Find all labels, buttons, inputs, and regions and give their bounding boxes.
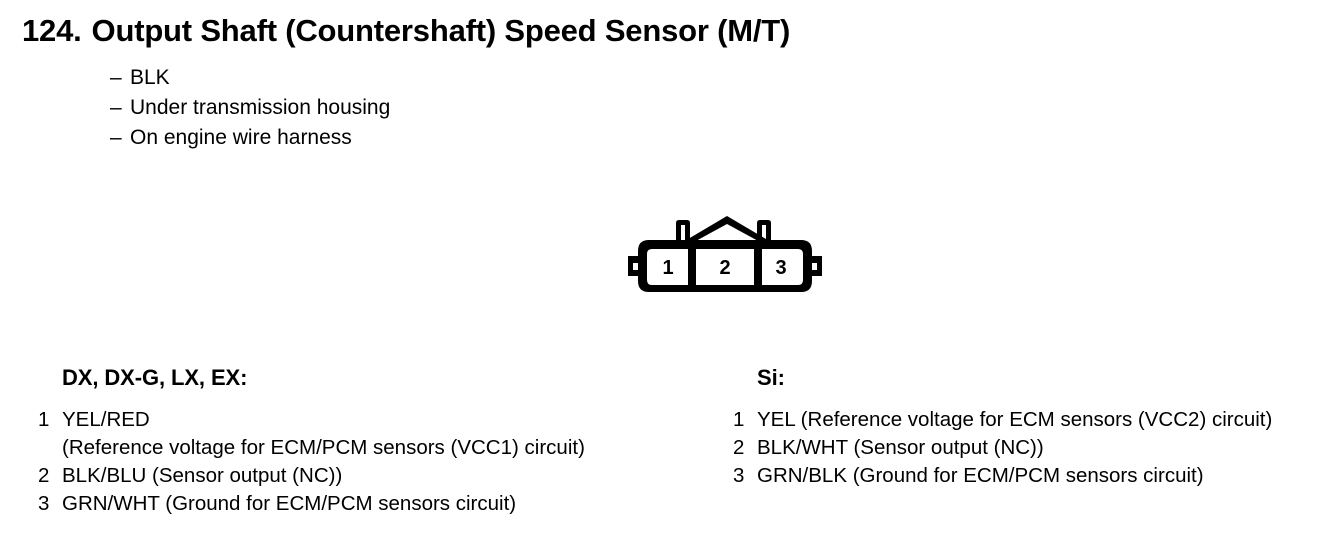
pin-number: 3 <box>733 462 757 490</box>
pin-description: GRN/WHT (Ground for ECM/PCM sensors circ… <box>62 490 585 518</box>
pin-description: GRN/BLK (Ground for ECM/PCM sensors circ… <box>757 462 1272 490</box>
connector-diagram: 1 2 3 <box>620 208 830 303</box>
pin-number: 3 <box>38 490 62 518</box>
pin-description: YEL/RED (Reference voltage for ECM/PCM s… <box>62 406 585 462</box>
table-row: 1 YEL (Reference voltage for ECM sensors… <box>733 406 1272 434</box>
list-item: – On engine wire harness <box>110 123 390 153</box>
table-row: 2 BLK/WHT (Sensor output (NC)) <box>733 434 1272 462</box>
table-row: 3 GRN/BLK (Ground for ECM/PCM sensors ci… <box>733 462 1272 490</box>
list-item: – BLK <box>110 63 390 93</box>
dash-icon: – <box>110 63 130 93</box>
pinout-heading: DX, DX-G, LX, EX: <box>62 364 585 392</box>
pin-number: 1 <box>38 406 62 434</box>
list-item: – Under transmission housing <box>110 93 390 123</box>
connector-illustration: 1 2 3 <box>620 208 830 303</box>
pin-description: BLK/WHT (Sensor output (NC)) <box>757 434 1272 462</box>
section-number: 124. <box>22 13 82 48</box>
list-item-label: BLK <box>130 63 170 93</box>
dash-icon: – <box>110 93 130 123</box>
detail-list: – BLK – Under transmission housing – On … <box>110 63 390 153</box>
pinout-heading: Si: <box>757 364 1272 392</box>
table-row: 1 YEL/RED (Reference voltage for ECM/PCM… <box>38 406 585 462</box>
pinout-table-dx-dxg-lx-ex: DX, DX-G, LX, EX: 1 YEL/RED (Reference v… <box>38 364 585 518</box>
pinout-table-si: Si: 1 YEL (Reference voltage for ECM sen… <box>733 364 1272 490</box>
section-title: Output Shaft (Countershaft) Speed Sensor… <box>92 13 791 48</box>
pin-description: BLK/BLU (Sensor output (NC)) <box>62 462 585 490</box>
dash-icon: – <box>110 123 130 153</box>
pin-description: YEL (Reference voltage for ECM sensors (… <box>757 406 1272 434</box>
table-row: 2 BLK/BLU (Sensor output (NC)) <box>38 462 585 490</box>
pin-number: 2 <box>733 434 757 462</box>
cavity-number-2: 2 <box>719 257 730 279</box>
table-row: 3 GRN/WHT (Ground for ECM/PCM sensors ci… <box>38 490 585 518</box>
list-item-label: Under transmission housing <box>130 93 390 123</box>
cavity-number-1: 1 <box>662 257 673 279</box>
page-title: 124.Output Shaft (Countershaft) Speed Se… <box>22 14 790 48</box>
pin-description-line1: YEL/RED <box>62 408 150 431</box>
cavity-number-3: 3 <box>775 257 786 279</box>
pin-number: 1 <box>733 406 757 434</box>
list-item-label: On engine wire harness <box>130 123 352 153</box>
pin-description-line2: (Reference voltage for ECM/PCM sensors (… <box>62 434 585 462</box>
pin-number: 2 <box>38 462 62 490</box>
